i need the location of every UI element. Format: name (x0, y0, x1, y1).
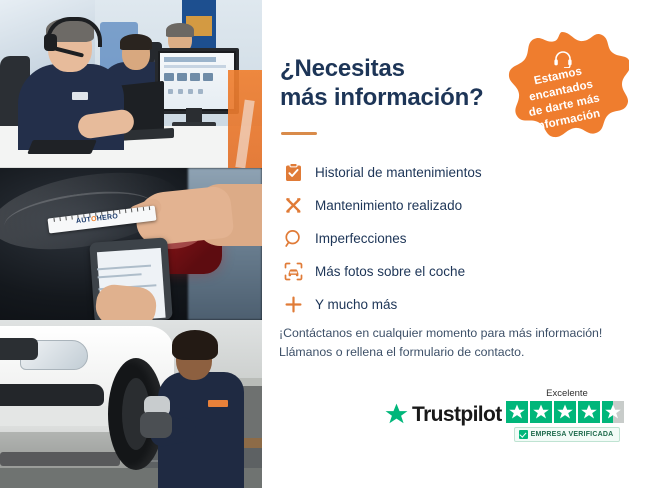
agent-middle-hair (120, 34, 152, 50)
trustpilot-logo[interactable]: Trustpilot (384, 402, 502, 427)
feature-label: Historial de mantenimientos (308, 165, 482, 180)
car-lower-grille (0, 384, 104, 406)
trustpilot-widget[interactable]: Trustpilot Excelente (384, 388, 634, 450)
screen-chip (164, 73, 174, 81)
screen-bar (164, 57, 216, 62)
screen-bar (164, 65, 226, 68)
screen-chip (178, 89, 183, 94)
feature-label: Mantenimiento realizado (308, 198, 462, 213)
feature-item-more-photos: Más fotos sobre el coche (278, 255, 618, 288)
rating-star (506, 401, 528, 423)
screen-chip (203, 73, 213, 81)
rating-star (554, 401, 576, 423)
mechanic-logo-patch (208, 400, 228, 407)
feature-item-maintenance-done: Mantenimiento realizado (278, 189, 618, 222)
trustpilot-rating-label: Excelente (506, 388, 628, 399)
car-bumper (0, 406, 124, 426)
trustpilot-rating: Excelente (506, 388, 628, 444)
content-panel: ¿Necesitas más información? Estamos enca… (262, 0, 650, 488)
page-title-line-1: ¿Necesitas (280, 54, 510, 83)
agent-background-hair (166, 23, 194, 37)
trustpilot-star-icon (384, 402, 409, 427)
feature-item-much-more: Y mucho más (278, 288, 618, 321)
desktop-monitor (155, 48, 239, 114)
inspection-photo: AUTOHERO (0, 168, 262, 320)
call-center-photo (0, 0, 262, 168)
car-lift-arm (0, 452, 120, 466)
car-scan-icon (278, 262, 308, 281)
workshop-photo (0, 320, 262, 488)
verified-label: EMPRESA VERIFICADA (531, 431, 614, 438)
feature-label: Y mucho más (308, 297, 397, 312)
feature-item-imperfections: Imperfecciones (278, 222, 618, 255)
ruler-brand-part2: HERO (96, 213, 118, 223)
contact-paragraph: ¡Contáctanos en cualquier momento para m… (279, 324, 635, 362)
car-upper-grille (0, 338, 38, 360)
plus-icon (278, 295, 308, 314)
clipboard-check-icon (278, 163, 308, 182)
photo-column: AUTOHERO (0, 0, 262, 488)
feature-item-maintenance-history: Historial de mantenimientos (278, 156, 618, 189)
promo-badge-text: Estamos encantados de darte más informac… (483, 16, 642, 175)
ruler-brand-part1: AUT (76, 216, 92, 225)
employee-name-badge (72, 92, 88, 100)
trustpilot-wordmark: Trustpilot (412, 403, 502, 427)
desk-tablet (27, 140, 97, 154)
verified-company-badge: EMPRESA VERIFICADA (514, 427, 621, 442)
mechanic-glove (140, 412, 172, 438)
feature-label: Imperfecciones (308, 231, 407, 246)
promo-badge: Estamos encantados de darte más informac… (495, 28, 629, 162)
autohero-ruler-wordmark: AUTOHERO (76, 213, 119, 225)
promo-banner: AUTOHERO (0, 0, 650, 488)
screen-chip (190, 73, 200, 81)
mechanic-hair (172, 330, 218, 360)
rating-star-half (602, 401, 624, 423)
verified-check-icon (519, 430, 528, 439)
agent-foreground-body (18, 64, 124, 150)
contact-line-2: Llámanos o rellena el formulario de cont… (279, 343, 635, 362)
contact-line-1: ¡Contáctanos en cualquier momento para m… (279, 324, 635, 343)
title-underline-rule (281, 132, 317, 135)
screen-chip (177, 73, 187, 81)
page-title: ¿Necesitas más información? (280, 54, 510, 113)
magnifier-icon (278, 229, 308, 248)
screen-chip (168, 89, 173, 94)
feature-label: Más fotos sobre el coche (308, 264, 465, 279)
rating-star (578, 401, 600, 423)
screen-chip (198, 89, 203, 94)
trustpilot-star-rating (506, 401, 628, 423)
page-title-line-2: más información? (280, 83, 510, 112)
rating-star (530, 401, 552, 423)
screen-chip (188, 89, 193, 94)
feature-list: Historial de mantenimientos M (278, 156, 618, 321)
crossed-tools-icon (278, 196, 308, 215)
